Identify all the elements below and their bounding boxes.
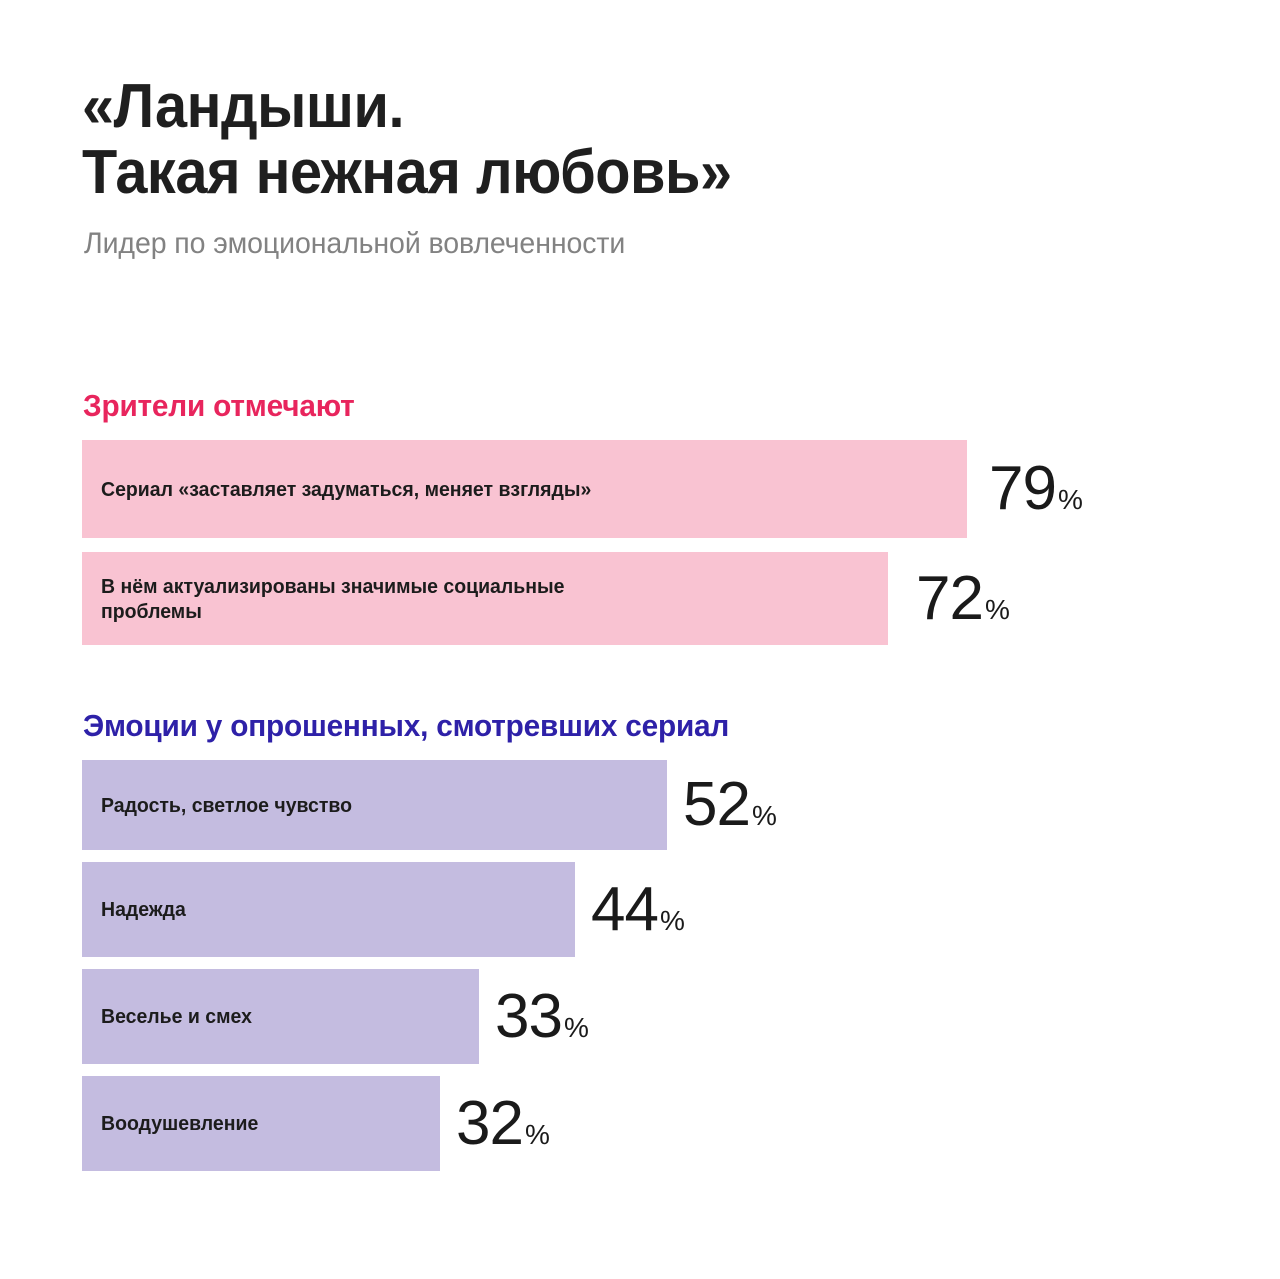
page-subtitle: Лидер по эмоциональной вовлеченности bbox=[84, 227, 1146, 261]
percent-sign: % bbox=[660, 907, 685, 935]
bar-value: 52 % bbox=[683, 774, 777, 836]
bar-track-emotions-3: Воодушевление bbox=[82, 1076, 440, 1171]
percent-sign: % bbox=[564, 1014, 589, 1042]
bar-label: Веселье и смех bbox=[82, 1004, 265, 1029]
bar-value-number: 44 bbox=[591, 879, 658, 941]
page-title: «Ландыши. Такая нежная любовь» bbox=[82, 74, 1124, 205]
percent-sign: % bbox=[525, 1121, 550, 1149]
percent-sign: % bbox=[985, 596, 1010, 624]
bar-row: Радость, светлое чувство 52 % bbox=[82, 760, 1212, 850]
bar-label: Надежда bbox=[82, 897, 199, 922]
bar-value: 44 % bbox=[591, 879, 685, 941]
infographic-page: «Ландыши. Такая нежная любовь» Лидер по … bbox=[0, 0, 1280, 1279]
bar-value: 79 % bbox=[989, 458, 1083, 520]
header: «Ландыши. Такая нежная любовь» Лидер по … bbox=[82, 74, 1202, 261]
bar-label: Радость, светлое чувство bbox=[82, 793, 365, 818]
section-title-viewers: Зрители отмечают bbox=[83, 388, 1167, 424]
bar-row: Надежда 44 % bbox=[82, 862, 1212, 957]
bar-label: В нём актуализированы значимые социальны… bbox=[82, 574, 578, 624]
bar-label: Сериал «заставляет задуматься, меняет вз… bbox=[82, 477, 605, 502]
bar-track-emotions-2: Веселье и смех bbox=[82, 969, 479, 1064]
section-title-emotions: Эмоции у опрошенных, смотревших сериал bbox=[83, 708, 1167, 744]
bar-row: Сериал «заставляет задуматься, меняет вз… bbox=[82, 440, 1212, 538]
bar-track-emotions-0: Радость, светлое чувство bbox=[82, 760, 667, 850]
bar-value: 33 % bbox=[495, 986, 589, 1048]
bar-value-number: 32 bbox=[456, 1093, 523, 1155]
bar-row: Воодушевление 32 % bbox=[82, 1076, 1212, 1171]
section-emotions: Эмоции у опрошенных, смотревших сериал Р… bbox=[82, 708, 1212, 1183]
section-viewers: Зрители отмечают Сериал «заставляет заду… bbox=[82, 388, 1212, 659]
bar-value-number: 33 bbox=[495, 986, 562, 1048]
percent-sign: % bbox=[1058, 486, 1083, 514]
bar-row: Веселье и смех 33 % bbox=[82, 969, 1212, 1064]
bar-track-viewers-0: Сериал «заставляет задуматься, меняет вз… bbox=[82, 440, 967, 538]
bar-value: 32 % bbox=[456, 1093, 550, 1155]
bar-value-number: 72 bbox=[916, 568, 983, 630]
bar-value: 72 % bbox=[916, 568, 1010, 630]
percent-sign: % bbox=[752, 802, 777, 830]
bar-row: В нём актуализированы значимые социальны… bbox=[82, 552, 1212, 645]
bar-label: Воодушевление bbox=[82, 1111, 272, 1136]
bar-track-emotions-1: Надежда bbox=[82, 862, 575, 957]
bar-value-number: 52 bbox=[683, 774, 750, 836]
bar-value-number: 79 bbox=[989, 458, 1056, 520]
bar-track-viewers-1: В нём актуализированы значимые социальны… bbox=[82, 552, 888, 645]
